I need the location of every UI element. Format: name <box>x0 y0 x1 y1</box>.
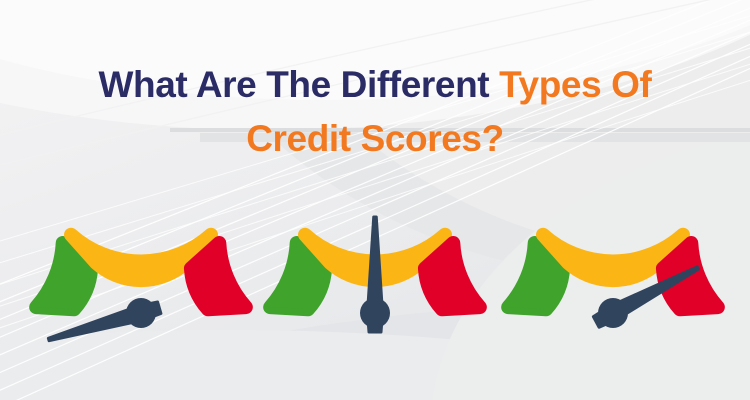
title-navy-text: What Are The Different <box>99 64 500 105</box>
page-title: What Are The Different Types Of Credit S… <box>0 62 750 170</box>
title-line-1: What Are The Different Types Of <box>0 62 750 116</box>
credit-score-gauge-mid <box>255 185 495 345</box>
gauge-segment-red <box>191 243 246 309</box>
title-orange-text-2: Credit Scores? <box>246 118 504 159</box>
credit-score-banner: What Are The Different Types Of Credit S… <box>0 0 750 400</box>
needle-hub <box>598 298 628 328</box>
credit-score-gauge-high <box>493 185 733 345</box>
gauge-segment-red <box>663 243 718 309</box>
title-orange-text: Types Of <box>499 64 651 105</box>
gauge-group <box>0 185 750 345</box>
gauge-svg-high <box>493 185 733 345</box>
needle-hub <box>360 298 390 328</box>
title-line-2: Credit Scores? <box>0 116 750 170</box>
needle-hub <box>126 298 156 328</box>
gauge-svg-mid <box>255 185 495 345</box>
gauge-segment-red <box>425 243 480 309</box>
gauge-svg-low <box>21 185 261 345</box>
credit-score-gauge-low <box>21 185 261 345</box>
